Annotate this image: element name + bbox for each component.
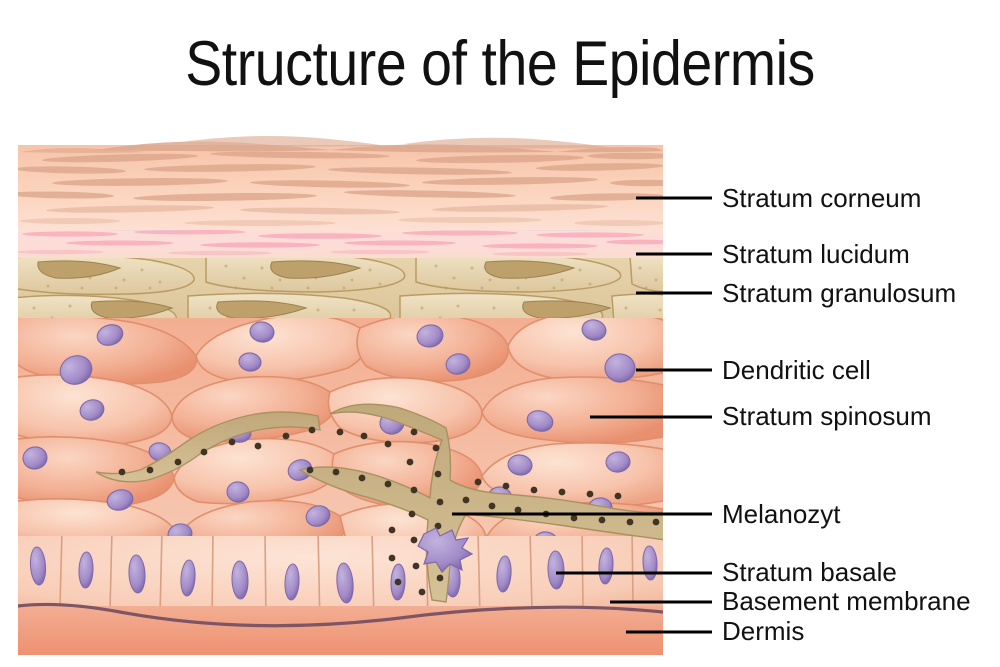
label-stratum-basale: Stratum basale [722, 557, 897, 587]
layer-stratum-lucidum [16, 226, 674, 258]
epidermis-cross-section-diagram: Stratum corneum Stratum lucidum Stratum … [0, 0, 1000, 667]
label-dermis: Dermis [722, 616, 804, 646]
label-stratum-granulosum: Stratum granulosum [722, 278, 956, 308]
label-stratum-lucidum: Stratum lucidum [722, 239, 910, 269]
layer-stratum-corneum [6, 136, 682, 230]
label-stratum-corneum: Stratum corneum [722, 183, 921, 213]
label-stratum-spinosum: Stratum spinosum [722, 401, 932, 431]
label-group: Stratum corneum Stratum lucidum Stratum … [722, 183, 971, 646]
label-basement-membrane: Basement membrane [722, 586, 971, 616]
label-melanozyt: Melanozyt [722, 499, 841, 529]
illustration-canvas: Structure of the Epidermis [0, 0, 1000, 667]
label-dendritic-cell: Dendritic cell [722, 355, 871, 385]
